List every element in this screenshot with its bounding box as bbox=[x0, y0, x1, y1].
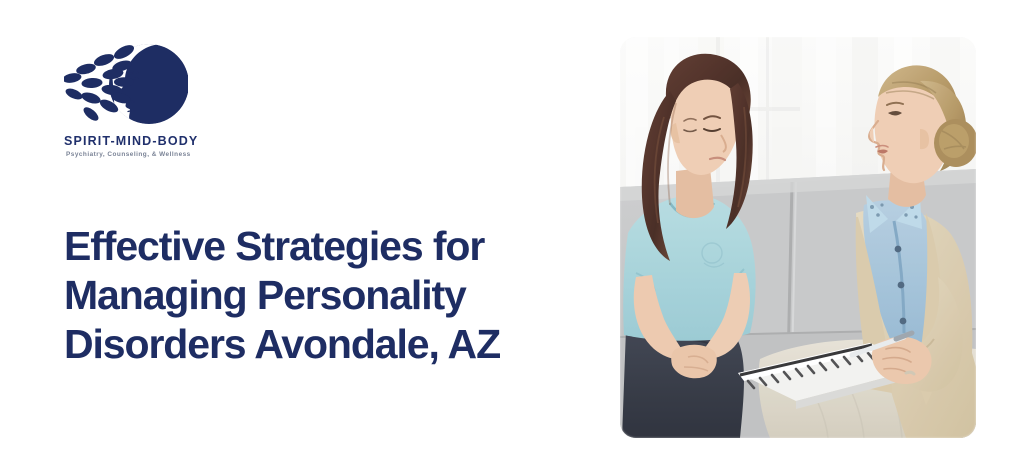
page-title: Effective Strategies for Managing Person… bbox=[64, 222, 604, 369]
hero-photo bbox=[620, 37, 976, 438]
left-content-column: SPIRIT-MIND-BODY Psychiatry, Counseling,… bbox=[0, 0, 600, 474]
headline-line-1: Effective Strategies for bbox=[64, 222, 604, 271]
therapy-session-illustration bbox=[620, 37, 976, 438]
headline-line-2: Managing Personality bbox=[64, 271, 604, 320]
head-profile-with-leaves-icon bbox=[64, 38, 188, 130]
hero-banner: SPIRIT-MIND-BODY Psychiatry, Counseling,… bbox=[0, 0, 1024, 474]
brand-name: SPIRIT-MIND-BODY bbox=[64, 134, 258, 148]
brand-tagline: Psychiatry, Counseling, & Wellness bbox=[66, 151, 258, 158]
headline-line-3: Disorders Avondale, AZ bbox=[64, 320, 604, 369]
brand-lockup[interactable]: SPIRIT-MIND-BODY Psychiatry, Counseling,… bbox=[58, 38, 258, 158]
